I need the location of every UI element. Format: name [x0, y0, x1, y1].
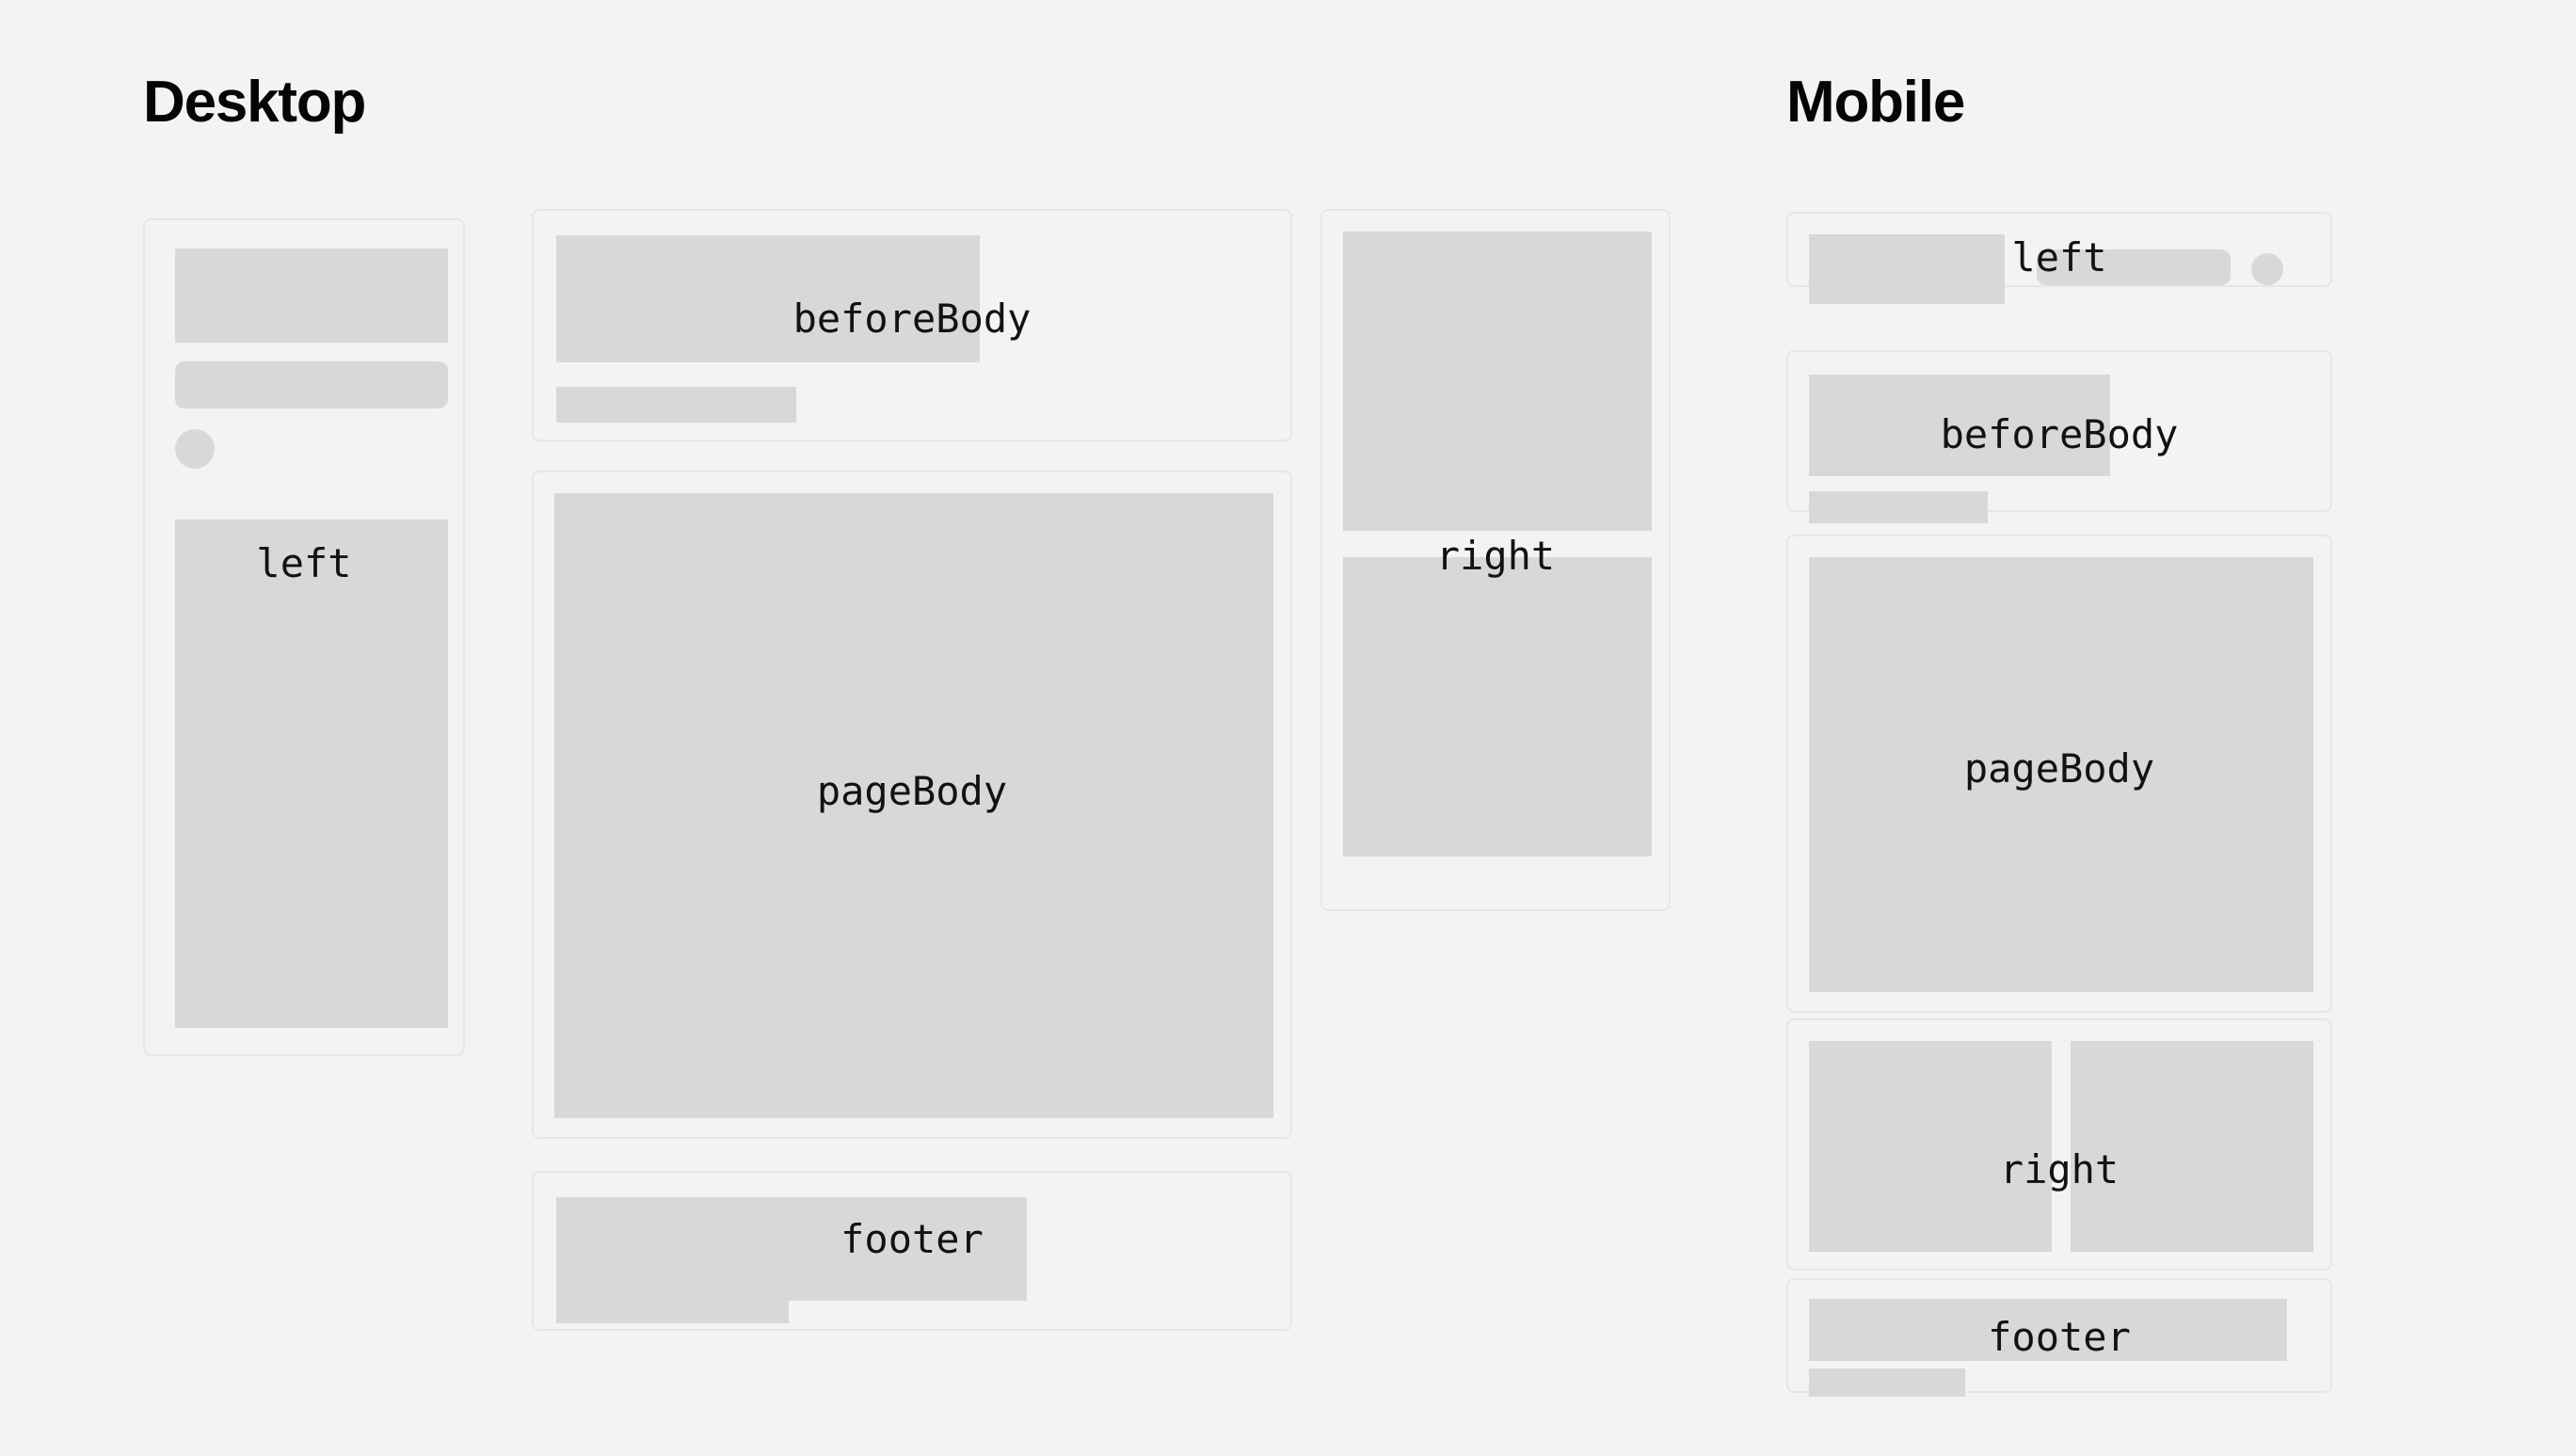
- skeleton-block: [1343, 232, 1652, 531]
- layout-preview-stage: Desktop left beforeBody pageBody right f…: [0, 0, 2576, 1456]
- skeleton-block: [1809, 375, 2110, 476]
- skeleton-block: [1809, 491, 1988, 523]
- skeleton-block: [1343, 557, 1652, 856]
- skeleton-block: [1809, 1368, 1965, 1397]
- skeleton-block: [556, 235, 980, 362]
- skeleton-block: [175, 248, 448, 343]
- skeleton-block: [175, 520, 448, 1028]
- desktop-beforebody-slot-panel[interactable]: [532, 209, 1292, 441]
- skeleton-block: [556, 387, 796, 423]
- desktop-section-title: Desktop: [143, 73, 365, 132]
- mobile-pagebody-slot-panel[interactable]: [1786, 535, 2332, 1013]
- skeleton-block: [554, 493, 1273, 1118]
- desktop-pagebody-slot-panel[interactable]: [532, 471, 1292, 1139]
- skeleton-block: [1809, 1299, 2287, 1361]
- skeleton-avatar-circle: [175, 429, 215, 469]
- mobile-left-slot-panel[interactable]: [1786, 212, 2332, 287]
- mobile-beforebody-slot-panel[interactable]: [1786, 350, 2332, 512]
- desktop-right-slot-panel[interactable]: [1320, 209, 1671, 911]
- mobile-section-title: Mobile: [1786, 73, 1964, 132]
- mobile-right-slot-panel[interactable]: [1786, 1018, 2332, 1271]
- skeleton-block: [2071, 1041, 2313, 1252]
- skeleton-block: [1809, 234, 2005, 304]
- desktop-left-slot-panel[interactable]: [143, 218, 465, 1056]
- skeleton-block: [556, 1288, 789, 1323]
- skeleton-block: [556, 1197, 1027, 1301]
- desktop-footer-slot-panel[interactable]: [532, 1171, 1292, 1331]
- skeleton-block: [1809, 557, 2313, 992]
- skeleton-block: [1809, 1041, 2052, 1252]
- mobile-footer-slot-panel[interactable]: [1786, 1278, 2332, 1393]
- skeleton-avatar-circle: [2251, 253, 2283, 285]
- skeleton-pill: [2037, 249, 2231, 285]
- skeleton-block: [175, 361, 448, 408]
